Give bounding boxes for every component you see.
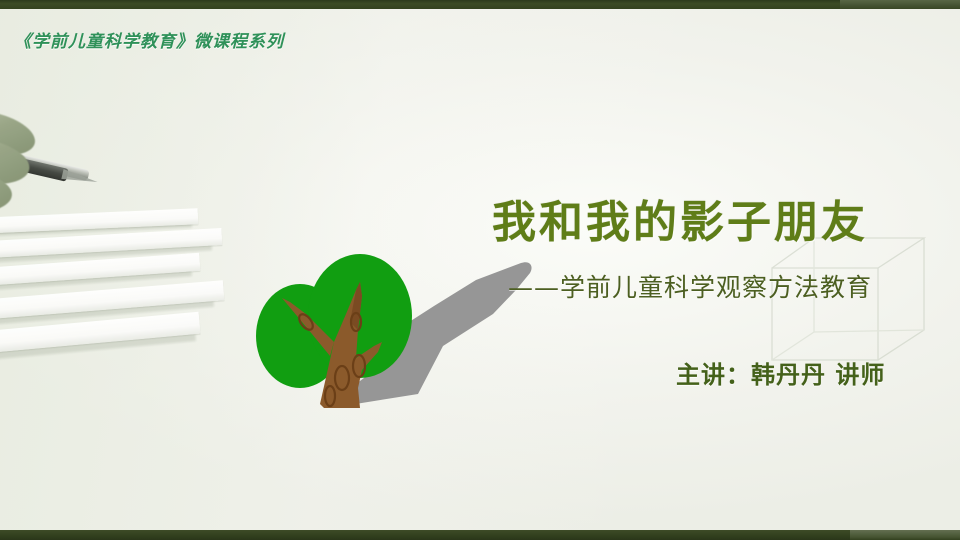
presentation-slide: 《学前儿童科学教育》微课程系列 我和我的影子朋友 ——学前儿童科学观察方法教育 … [0, 0, 960, 540]
top-accent-bar-highlight [840, 0, 960, 9]
bottom-accent-bar-highlight [850, 530, 960, 540]
presenter-credit: 主讲：韩丹丹 讲师 [676, 355, 885, 390]
top-accent-bar [0, 0, 960, 9]
slide-main-title: 我和我的影子朋友 [492, 186, 868, 250]
bottom-accent-bar [0, 530, 960, 540]
hand-illustration [0, 95, 100, 245]
course-series-label: 《学前儿童科学教育》微课程系列 [14, 27, 284, 52]
slide-subtitle: ——学前儿童科学观察方法教育 [508, 268, 872, 304]
